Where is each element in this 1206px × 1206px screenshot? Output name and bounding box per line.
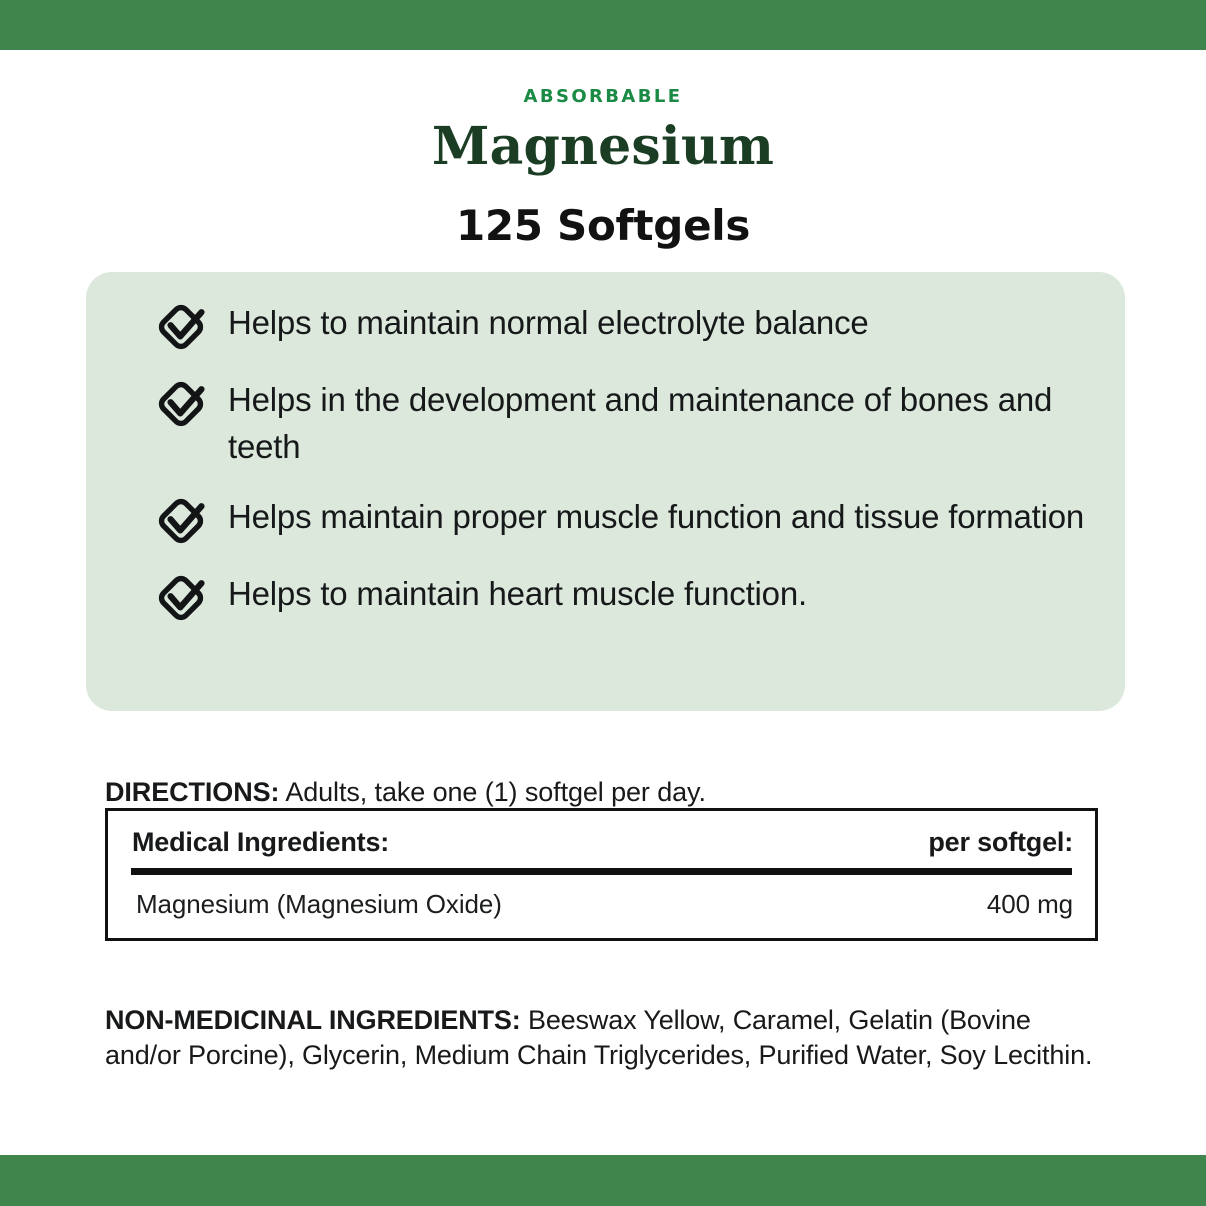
benefit-item: Helps in the development and maintenance…	[86, 375, 1125, 470]
benefit-item: Helps to maintain normal electrolyte bal…	[86, 298, 1125, 353]
check-diamond-icon	[155, 572, 207, 624]
table-header-row: Medical Ingredients: per softgel:	[108, 811, 1095, 868]
benefit-label: Helps in the development and maintenance…	[228, 375, 1101, 470]
product-eyebrow: ABSORBABLE	[0, 88, 1206, 106]
non-medicinal-ingredients-text: NON-MEDICINAL INGREDIENTS: Beeswax Yello…	[105, 1003, 1095, 1073]
medical-ingredients-table: Medical Ingredients: per softgel: Magnes…	[105, 808, 1098, 941]
top-accent-band	[0, 0, 1206, 50]
non-medicinal-label: NON-MEDICINAL INGREDIENTS:	[105, 1005, 521, 1035]
directions-label: DIRECTIONS:	[105, 777, 279, 807]
column-header-amount: per softgel:	[928, 827, 1073, 858]
check-diamond-icon	[155, 495, 207, 547]
product-wordmark: Magnesium	[0, 119, 1206, 175]
product-header: ABSORBABLE Magnesium 125 Softgels	[0, 88, 1206, 247]
table-divider-rule	[131, 868, 1072, 875]
table-row: Magnesium (Magnesium Oxide) 400 mg	[108, 875, 1095, 938]
column-header-ingredient: Medical Ingredients:	[132, 827, 389, 858]
directions-body: Adults, take one (1) softgel per day.	[279, 777, 705, 807]
check-diamond-icon	[155, 378, 207, 430]
supplement-label: ABSORBABLE Magnesium 125 Softgels Helps …	[0, 0, 1206, 1206]
benefit-item: Helps maintain proper muscle function an…	[86, 492, 1125, 547]
benefit-label: Helps to maintain normal electrolyte bal…	[228, 298, 869, 346]
ingredient-amount: 400 mg	[987, 889, 1073, 920]
benefit-label: Helps maintain proper muscle function an…	[228, 492, 1084, 540]
benefit-item: Helps to maintain heart muscle function.	[86, 569, 1125, 624]
ingredient-name: Magnesium (Magnesium Oxide)	[136, 889, 502, 920]
bottom-accent-band	[0, 1155, 1206, 1206]
product-count: 125 Softgels	[0, 205, 1206, 247]
directions-text: DIRECTIONS: Adults, take one (1) softgel…	[105, 775, 1105, 810]
benefits-panel: Helps to maintain normal electrolyte bal…	[86, 272, 1125, 711]
check-diamond-icon	[155, 301, 207, 353]
benefit-label: Helps to maintain heart muscle function.	[228, 569, 807, 617]
